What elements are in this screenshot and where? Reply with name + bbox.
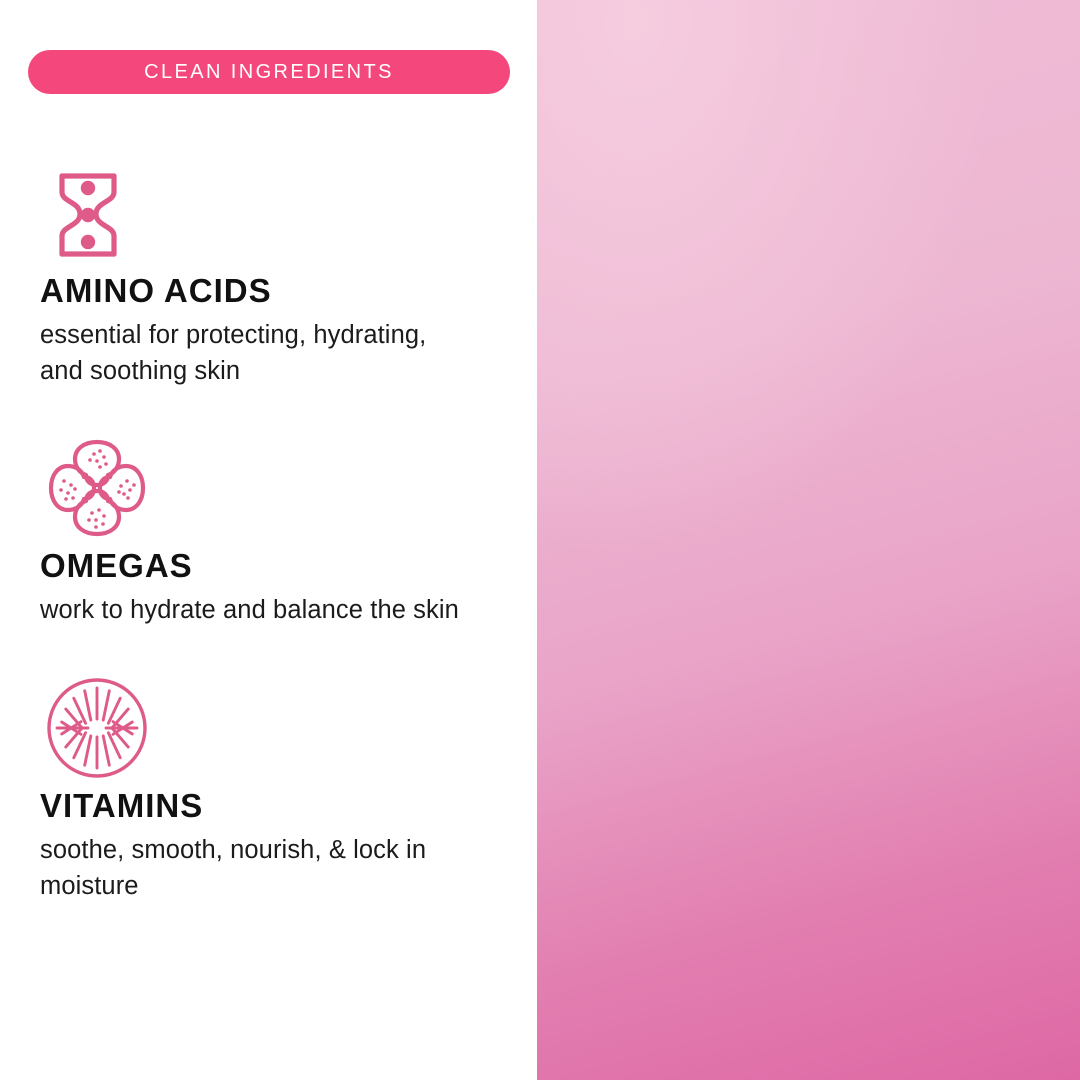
feature-item-omegas: OMEGAS work to hydrate and balance the s…: [40, 433, 510, 628]
feature-item-vitamins: VITAMINS soothe, smooth, nourish, & lock…: [40, 673, 510, 904]
amino-acids-icon: [42, 160, 152, 270]
feature-description-vitamins: soothe, smooth, nourish, & lock in moist…: [40, 832, 470, 904]
feature-title-amino-acids: AMINO ACIDS: [40, 274, 510, 307]
vitamins-icon: [42, 673, 152, 783]
ingredients-panel: CLEAN INGREDIENTS: [0, 0, 537, 1080]
feature-description-amino-acids: essential for protecting, hydrating, and…: [40, 317, 470, 389]
clean-ingredients-badge: CLEAN INGREDIENTS: [28, 50, 510, 94]
clean-ingredients-infographic: CLEAN INGREDIENTS: [0, 0, 1080, 1080]
feature-list: AMINO ACIDS essential for protecting, hy…: [40, 160, 510, 940]
feature-item-amino-acids: AMINO ACIDS essential for protecting, hy…: [40, 160, 510, 389]
pink-serum-bubbles-photo: [537, 0, 1080, 1080]
feature-description-omegas: work to hydrate and balance the skin: [40, 592, 470, 628]
amino-dot-middle: [81, 208, 95, 222]
clean-ingredients-badge-label: CLEAN INGREDIENTS: [144, 62, 394, 82]
amino-dot-bottom: [81, 235, 95, 249]
omegas-icon: [42, 433, 152, 543]
vitamins-rays: [57, 688, 137, 768]
feature-title-vitamins: VITAMINS: [40, 789, 510, 822]
amino-dot-top: [81, 181, 95, 195]
photo-background: [537, 0, 1080, 1080]
feature-title-omegas: OMEGAS: [40, 549, 510, 582]
